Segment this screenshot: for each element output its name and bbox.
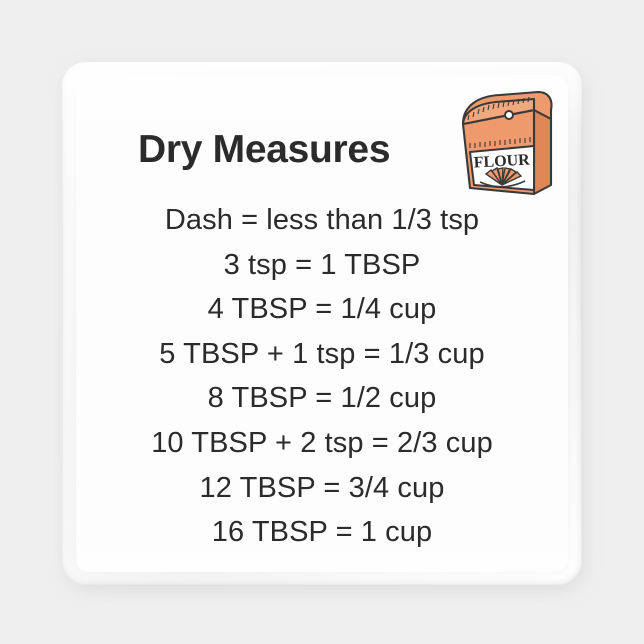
flour-bin-illustration: FLOUR [450,86,560,198]
measure-row-dash: Dash = less than 1/3 tsp [62,198,582,243]
measure-row-5-tbsp-1-tsp: 5 TBSP + 1 tsp = 1/3 cup [62,332,582,377]
measures-list: Dash = less than 1/3 tsp 3 tsp = 1 TBSP … [62,198,582,555]
bin-side-panel [534,110,551,194]
measure-row-10-tbsp-2-tsp: 10 TBSP + 2 tsp = 2/3 cup [62,421,582,466]
bin-lid-knob [505,111,513,119]
measure-row-3-tsp: 3 tsp = 1 TBSP [62,243,582,288]
measure-row-12-tbsp: 12 TBSP = 3/4 cup [62,466,582,511]
page-title: Dry Measures [138,128,390,172]
measure-row-16-tbsp: 16 TBSP = 1 cup [62,510,582,555]
product-mockup-stage: Dry Measures [0,0,644,644]
measure-row-8-tbsp: 8 TBSP = 1/2 cup [62,376,582,421]
printed-artwork: Dry Measures [62,62,582,585]
measure-row-4-tbsp: 4 TBSP = 1/4 cup [62,287,582,332]
